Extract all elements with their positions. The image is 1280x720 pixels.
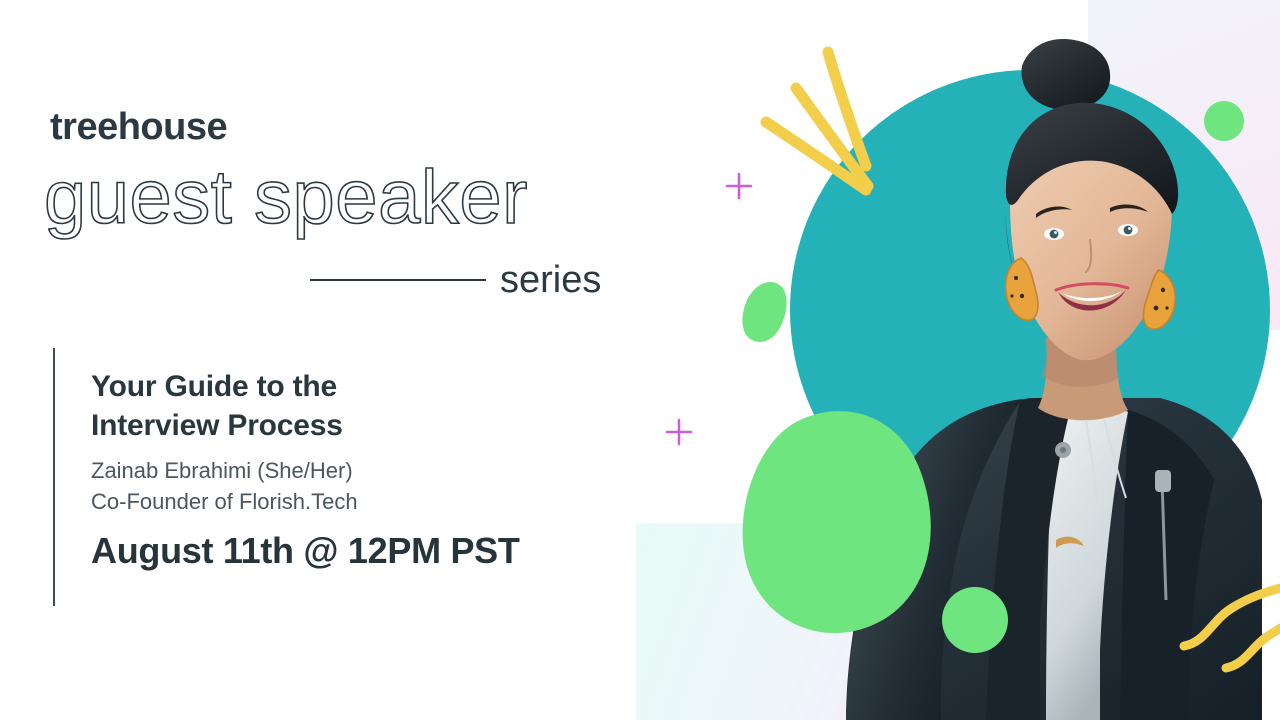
vertical-accent-rule [53, 348, 55, 606]
green-blob-large [743, 411, 931, 633]
plus-mark-upper [727, 174, 751, 198]
yellow-ray-strokes [766, 52, 868, 190]
green-circle-bottom [942, 587, 1008, 653]
plus-mark-lower [667, 420, 691, 444]
event-details: Your Guide to the Interview Process Zain… [91, 367, 631, 571]
series-divider-rule [310, 279, 486, 281]
series-label: series [500, 261, 601, 299]
brand-wordmark: treehouse [50, 108, 227, 146]
speaker-role: Co-Founder of Florish.Tech [91, 486, 631, 517]
speaker-name: Zainab Ebrahimi (She/Her) [91, 455, 631, 486]
talk-title: Your Guide to the Interview Process [91, 367, 631, 445]
slide-canvas: treehouse guest speaker series Your Guid… [0, 0, 1280, 720]
headline-outline-text: guest speaker [44, 160, 528, 236]
green-circle-top [1204, 101, 1244, 141]
series-row: series [310, 255, 640, 305]
text-column: treehouse guest speaker series Your Guid… [0, 0, 660, 720]
event-datetime: August 11th @ 12PM PST [91, 531, 631, 571]
green-blob-small [742, 282, 786, 342]
